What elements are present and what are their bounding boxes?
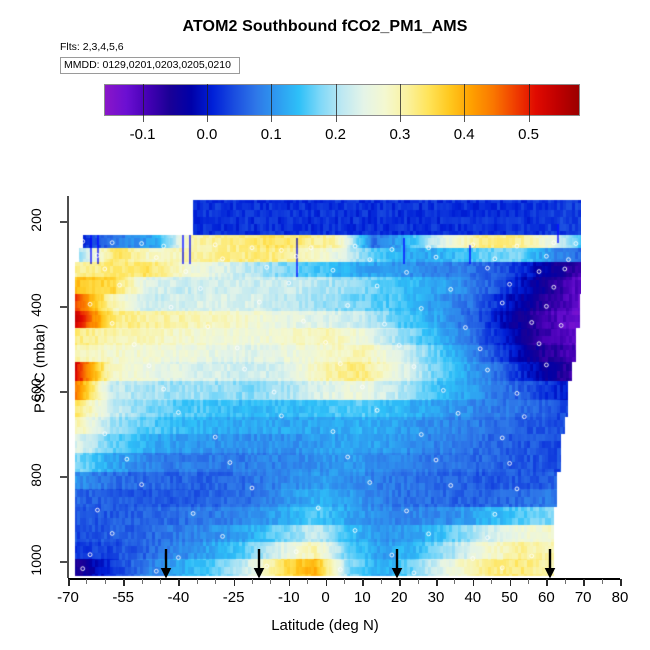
colorbar-divider [336,84,337,116]
colorbar [104,84,580,116]
colorbar-divider [400,84,401,116]
y-axis-tick-label: 600 [28,371,44,409]
y-axis-tick [60,391,67,393]
colorbar-divider [529,84,530,116]
profile-arrow-icon [253,549,266,579]
y-axis-tick-label: 200 [28,201,44,239]
colorbar-tick-label: 0.4 [454,126,475,143]
x-axis-minor-tick [105,579,106,584]
x-axis-tick [178,579,180,586]
x-axis-minor-tick [565,579,566,584]
profile-arrow-icon [544,549,557,579]
colorbar-tick [400,116,401,122]
x-axis-tick [399,579,401,586]
x-axis-tick [234,579,236,586]
colorbar-gradient [104,84,580,116]
x-axis-tick-label: 80 [612,589,629,606]
x-axis-tick [583,579,585,586]
x-axis-tick-label: 50 [501,589,518,606]
x-axis-minor-tick [491,579,492,584]
heatmap-panel [68,196,581,578]
profile-arrow-icon [391,549,404,579]
x-axis-minor-tick [270,579,271,584]
colorbar-tick [529,116,530,122]
y-axis-tick [60,561,67,563]
x-axis-minor-tick [528,579,529,584]
x-axis-tick [68,579,70,586]
colorbar-tick [143,116,144,122]
x-axis-tick-label: -70 [57,589,79,606]
x-axis-minor-tick [454,579,455,584]
x-axis-minor-tick [215,579,216,584]
y-axis-tick [60,476,67,478]
x-axis-tick [362,579,364,586]
x-axis-minor-tick [418,579,419,584]
x-axis-tick-label: 0 [321,589,329,606]
x-axis-tick-label: -25 [223,589,245,606]
x-axis-minor-tick [160,579,161,584]
x-axis-minor-tick [307,579,308,584]
x-axis-minor-tick [197,579,198,584]
y-axis-tick [60,306,67,308]
colorbar-tick-label: 0.3 [389,126,410,143]
x-axis-tick-label: 10 [354,589,371,606]
x-axis-minor-tick [86,579,87,584]
x-axis-tick-label: 40 [464,589,481,606]
x-axis-minor-tick [602,579,603,584]
x-axis-tick-label: -55 [112,589,134,606]
x-axis-tick-label: 30 [428,589,445,606]
heatmap-canvas [68,196,581,578]
y-axis-tick-label: 400 [28,286,44,324]
x-axis-tick-label: 20 [391,589,408,606]
x-axis-title: Latitude (deg N) [0,617,650,634]
y-axis-line [67,196,69,578]
colorbar-tick-label: 0.1 [261,126,282,143]
colorbar-divider [207,84,208,116]
x-axis-minor-tick [252,579,253,584]
figure-root: ATOM2 Southbound fCO2_PM1_AMS Flts: 2,3,… [0,0,650,650]
flights-label: Flts: 2,3,4,5,6 [60,41,124,53]
x-axis-tick [473,579,475,586]
profile-arrow-icon [159,549,172,579]
x-axis-tick [326,579,328,586]
x-axis-minor-tick [142,579,143,584]
x-axis-minor-tick [344,579,345,584]
colorbar-tick [464,116,465,122]
x-axis-tick-label: 70 [575,589,592,606]
x-axis-tick [289,579,291,586]
x-axis-tick-label: -40 [168,589,190,606]
colorbar-tick-label: -0.1 [130,126,156,143]
x-axis-tick [436,579,438,586]
x-axis-tick [546,579,548,586]
y-axis-tick-label: 1000 [28,541,44,579]
page-title: ATOM2 Southbound fCO2_PM1_AMS [0,18,650,36]
colorbar-tick-label: 0.0 [196,126,217,143]
colorbar-tick [271,116,272,122]
colorbar-tick [336,116,337,122]
colorbar-tick [207,116,208,122]
x-axis-tick-label: 60 [538,589,555,606]
x-axis-tick [620,579,622,586]
y-axis-tick-label: 800 [28,456,44,494]
x-axis-minor-tick [381,579,382,584]
x-axis-tick [510,579,512,586]
colorbar-tick-label: 0.2 [325,126,346,143]
x-axis-tick-label: -10 [278,589,300,606]
colorbar-tick-label: 0.5 [518,126,539,143]
colorbar-divider [143,84,144,116]
y-axis-tick [60,221,67,223]
x-axis-tick [123,579,125,586]
mmdd-label: MMDD: 0129,0201,0203,0205,0210 [64,59,231,71]
colorbar-divider [464,84,465,116]
colorbar-divider [271,84,272,116]
